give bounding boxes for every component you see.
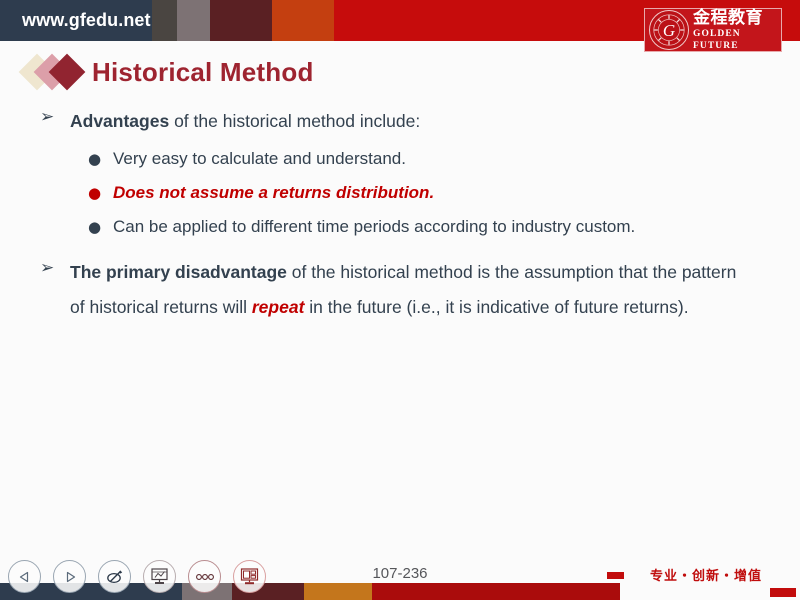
triangle-left-icon [17, 569, 33, 585]
projector-icon [149, 566, 170, 587]
website-url-text: www.gfedu.net [22, 10, 151, 31]
bullet-level1-advantages: ➢ Advantages of the historical method in… [0, 104, 800, 139]
bullet-lead-bold: Advantages [70, 111, 169, 131]
more-options-button[interactable] [188, 560, 221, 593]
bullet-tail: in the future (i.e., it is indicative of… [304, 297, 688, 317]
color-block-orange [272, 0, 334, 41]
bullet-level1-text: Advantages of the historical method incl… [70, 104, 420, 139]
company-tagline: 专业・创新・增值 [650, 565, 762, 584]
logo-emblem-icon: G [649, 10, 689, 50]
bullet-rest: of the historical method include: [169, 111, 420, 131]
footer-block-orange [304, 583, 372, 600]
tagline-left-dash [607, 572, 624, 579]
pen-annotate-button[interactable] [98, 560, 131, 593]
arrow-bullet-icon: ➢ [40, 255, 70, 282]
color-block-gray [177, 0, 210, 41]
round-bullet-icon: ● [88, 145, 113, 173]
previous-slide-button[interactable] [8, 560, 41, 593]
footer-end-dash [770, 588, 796, 597]
slide-show-button[interactable] [233, 560, 266, 593]
bullet-level2-text: Very easy to calculate and understand. [113, 145, 406, 173]
logo-english-name: GOLDEN FUTURE [693, 28, 781, 52]
bullet-level2-text: Can be applied to different time periods… [113, 213, 635, 241]
screen-share-icon [239, 566, 260, 587]
title-diamonds-icon [24, 53, 90, 91]
bullet-level1-text: The primary disadvantage of the historic… [70, 255, 755, 325]
brand-logo: G 金程教育 GOLDEN FUTURE [644, 8, 782, 52]
bullet-lead-bold: The primary disadvantage [70, 262, 287, 282]
presenter-view-button[interactable] [143, 560, 176, 593]
slide-title: Historical Method [92, 57, 314, 88]
next-slide-button[interactable] [53, 560, 86, 593]
bullet-emphasis: repeat [252, 297, 305, 317]
slide-title-row: Historical Method [24, 52, 314, 92]
bullet-level2-time-periods: ● Can be applied to different time perio… [0, 213, 800, 241]
logo-ring-decoration [650, 11, 688, 49]
bullet-level1-disadvantage: ➢ The primary disadvantage of the histor… [0, 255, 800, 325]
bullet-level2-no-distribution: ● Does not assume a returns distribution… [0, 179, 800, 207]
logo-wordmark: 金程教育 GOLDEN FUTURE [693, 9, 781, 52]
round-bullet-red-icon: ● [88, 179, 113, 207]
color-block-dark-gray [152, 0, 177, 41]
bullet-level2-easy-calculate: ● Very easy to calculate and understand. [0, 145, 800, 173]
slideshow-toolbar [8, 560, 266, 593]
website-url-block: www.gfedu.net [0, 0, 152, 41]
slide-body: ➢ Advantages of the historical method in… [0, 104, 800, 331]
color-block-maroon [210, 0, 272, 41]
bullet-level2-text-highlighted: Does not assume a returns distribution. [113, 179, 434, 207]
round-bullet-icon: ● [88, 213, 113, 241]
logo-chinese-name: 金程教育 [693, 9, 781, 28]
triangle-right-icon [62, 569, 78, 585]
footer-block-red [372, 583, 620, 600]
pen-icon [105, 567, 125, 587]
ellipsis-icon [194, 572, 216, 582]
arrow-bullet-icon: ➢ [40, 104, 70, 131]
